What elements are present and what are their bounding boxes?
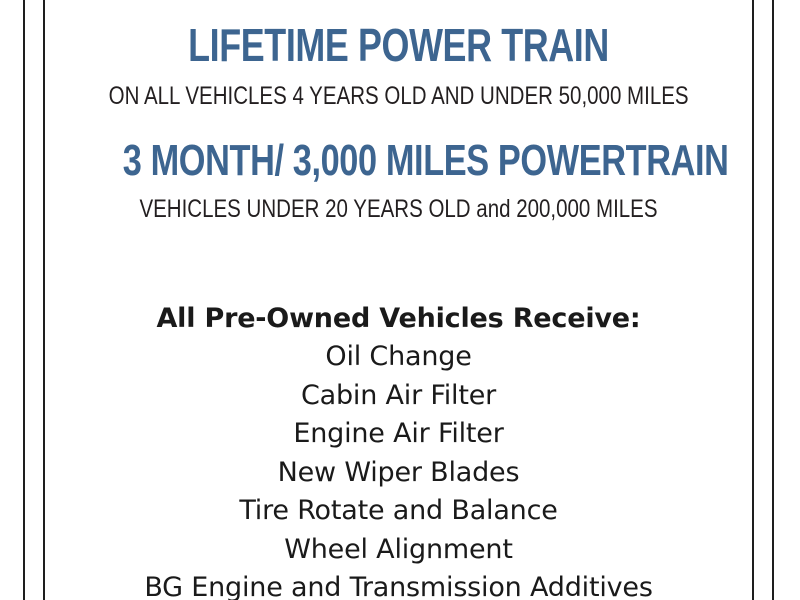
service-item: Wheel Alignment xyxy=(45,531,752,570)
frame-rule-outer-right xyxy=(772,0,774,600)
services-title: All Pre-Owned Vehicles Receive: xyxy=(45,300,752,338)
service-item: Oil Change xyxy=(45,338,752,377)
flyer-canvas: LIFETIME POWER TRAIN ON ALL VEHICLES 4 Y… xyxy=(0,0,800,600)
frame-rule-inner-right xyxy=(752,0,754,600)
service-item: Tire Rotate and Balance xyxy=(45,492,752,531)
frame-rule-outer-left xyxy=(23,0,25,600)
services-section: All Pre-Owned Vehicles Receive: Oil Chan… xyxy=(45,300,752,600)
service-item: New Wiper Blades xyxy=(45,454,752,493)
flyer-content: LIFETIME POWER TRAIN ON ALL VEHICLES 4 Y… xyxy=(45,0,752,600)
warranty-offer-lifetime: LIFETIME POWER TRAIN ON ALL VEHICLES 4 Y… xyxy=(45,22,752,109)
warranty-headline-three-month: 3 MONTH/ 3,000 MILES POWERTRAIN xyxy=(123,139,674,183)
service-item: Cabin Air Filter xyxy=(45,377,752,416)
service-item: BG Engine and Transmission Additives xyxy=(45,569,752,600)
warranty-offer-three-month: 3 MONTH/ 3,000 MILES POWERTRAIN VEHICLES… xyxy=(45,139,752,222)
warranty-subline-lifetime: ON ALL VEHICLES 4 YEARS OLD AND UNDER 50… xyxy=(109,84,689,109)
warranty-subline-three-month: VEHICLES UNDER 20 YEARS OLD and 200,000 … xyxy=(109,197,689,222)
service-item: Engine Air Filter xyxy=(45,415,752,454)
warranty-headline-lifetime: LIFETIME POWER TRAIN xyxy=(123,22,674,68)
